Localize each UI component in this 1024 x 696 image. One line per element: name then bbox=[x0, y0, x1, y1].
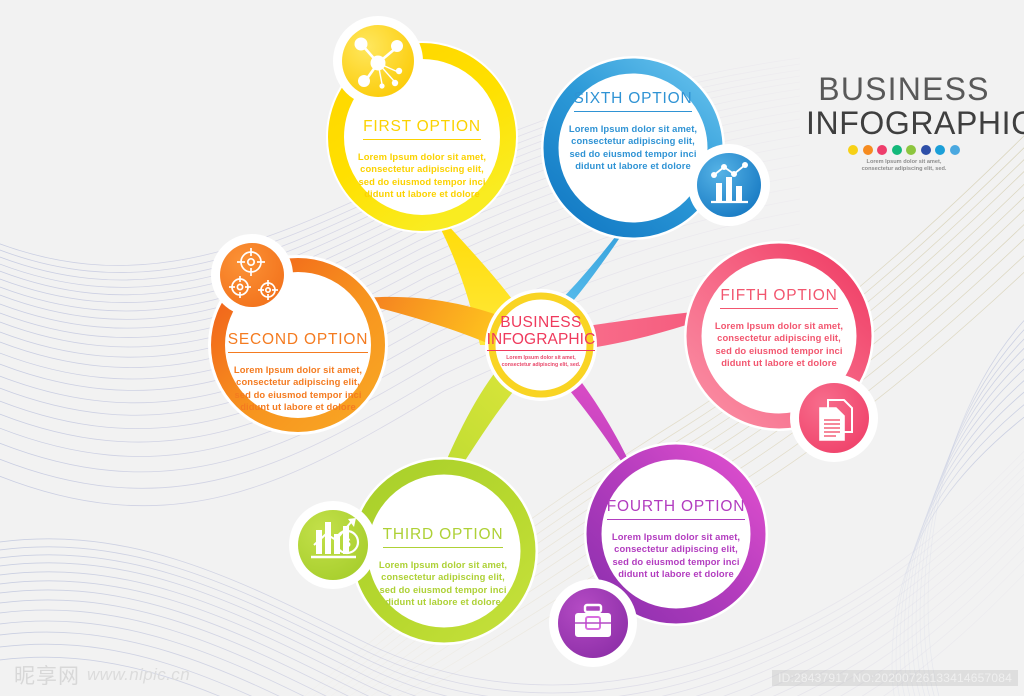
option-sixth bbox=[541, 56, 770, 240]
option-third: $ bbox=[289, 457, 538, 645]
watermark-id: ID:28437917 NO:20200726133414657084 bbox=[772, 670, 1018, 686]
petal-diagram: $ bbox=[0, 0, 1024, 696]
option-fifth bbox=[684, 241, 878, 462]
svg-text:$: $ bbox=[343, 535, 351, 550]
option-first bbox=[326, 16, 518, 233]
watermark-brand: 昵享网 www.nipic.cn bbox=[14, 660, 190, 690]
infographic-canvas: $ FIRST OPTION Lorem bbox=[0, 0, 1024, 696]
watermark-brand-cn: 昵享网 bbox=[14, 660, 80, 690]
option-fourth bbox=[549, 442, 768, 667]
center-hub bbox=[485, 289, 597, 401]
option-second bbox=[208, 234, 388, 435]
watermark-brand-url: www.nipic.cn bbox=[87, 665, 190, 685]
